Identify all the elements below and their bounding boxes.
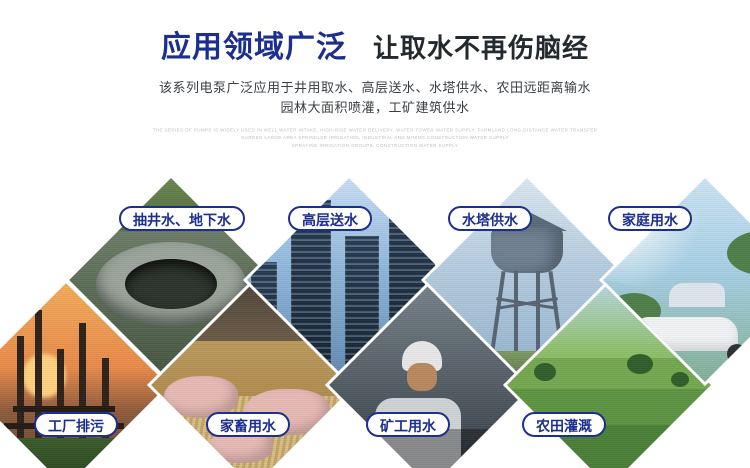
description: 该系列电泵广泛应用于井用取水、高层送水、水塔供水、农田远距离输水 园林大面积喷灌…	[0, 78, 750, 118]
description-line-2: 园林大面积喷灌，工矿建筑供水	[0, 98, 750, 118]
description-line-1: 该系列电泵广泛应用于井用取水、高层送水、水塔供水、农田远距离输水	[0, 78, 750, 98]
application-diamond-grid: 抽井水、地下水 高层送水 水塔供水 家庭用水 工厂排污 家畜用水 矿工用水 农田…	[0, 175, 750, 468]
latin-line-2: GARDEN LARGE AREA SPRINKLER IRRIGATION, …	[0, 134, 750, 142]
latin-line-1: THE SERIES OF PUMPS IS WIDELY USED IN WE…	[0, 126, 750, 134]
latin-line-3: SPRAYING IRRIGATION GROUPS, CONSTRUCTION…	[0, 141, 750, 149]
latin-caption: THE SERIES OF PUMPS IS WIDELY USED IN WE…	[0, 126, 750, 149]
header: 应用领域广泛 让取水不再伤脑经 该系列电泵广泛应用于井用取水、高层送水、水塔供水…	[0, 0, 750, 148]
title-row: 应用领域广泛 让取水不再伤脑经	[0, 22, 750, 66]
poster-root: 应用领域广泛 让取水不再伤脑经 该系列电泵广泛应用于井用取水、高层送水、水塔供水…	[0, 0, 750, 468]
label-well[interactable]: 抽井水、地下水	[119, 206, 245, 231]
label-farmland[interactable]: 农田灌溉	[522, 412, 606, 437]
label-miner[interactable]: 矿工用水	[366, 412, 450, 437]
label-highrise[interactable]: 高层送水	[288, 206, 372, 231]
page-title: 应用领域广泛	[161, 22, 347, 66]
label-household[interactable]: 家庭用水	[608, 206, 692, 231]
page-subtitle: 让取水不再伤脑经	[373, 28, 589, 65]
label-watertower[interactable]: 水塔供水	[448, 206, 532, 231]
label-factory[interactable]: 工厂排污	[34, 412, 118, 437]
label-livestock[interactable]: 家畜用水	[206, 412, 290, 437]
